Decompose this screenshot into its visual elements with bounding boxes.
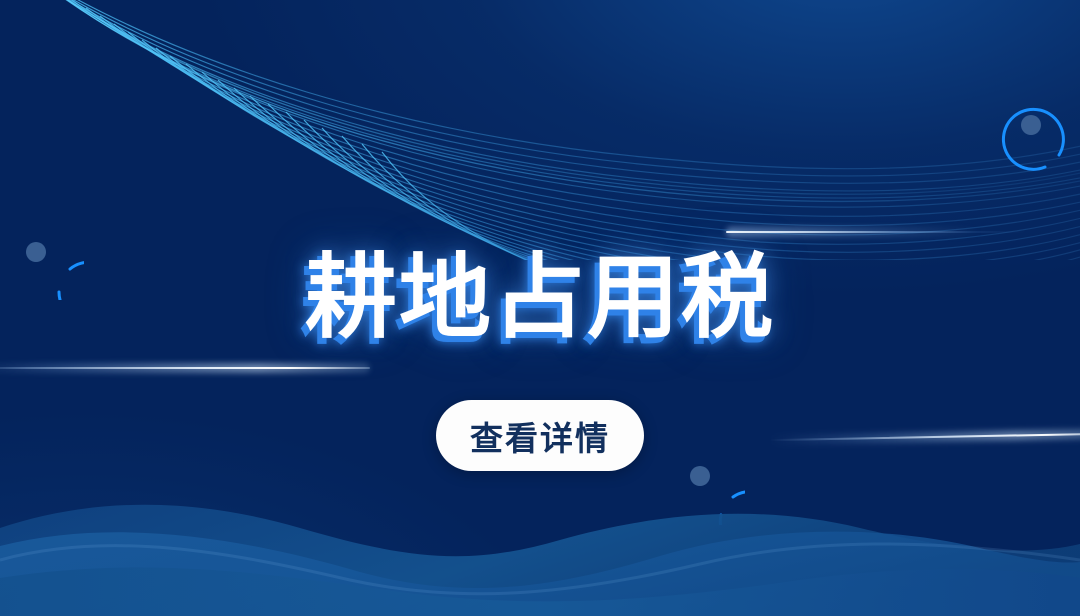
promo-banner: 耕地占用税 查看详情 <box>0 0 1080 616</box>
top-wave-lines-pattern <box>0 0 1080 616</box>
open-ring-icon <box>12 228 84 300</box>
view-details-button[interactable]: 查看详情 <box>436 400 644 471</box>
background-gradient <box>0 0 1080 616</box>
cta-container: 查看详情 <box>0 400 1080 471</box>
ring-dot <box>1021 115 1041 135</box>
ring-circle-right <box>993 103 1065 175</box>
ring-dot <box>26 242 46 262</box>
title-container: 耕地占用税 <box>0 186 1080 409</box>
page-title: 耕地占用税 <box>305 248 775 347</box>
light-streak-left <box>0 355 370 381</box>
light-streak-title <box>726 220 1026 244</box>
ring-circle-left <box>12 228 84 300</box>
open-ring-icon <box>993 103 1065 175</box>
bottom-wave-shapes <box>0 0 1080 616</box>
